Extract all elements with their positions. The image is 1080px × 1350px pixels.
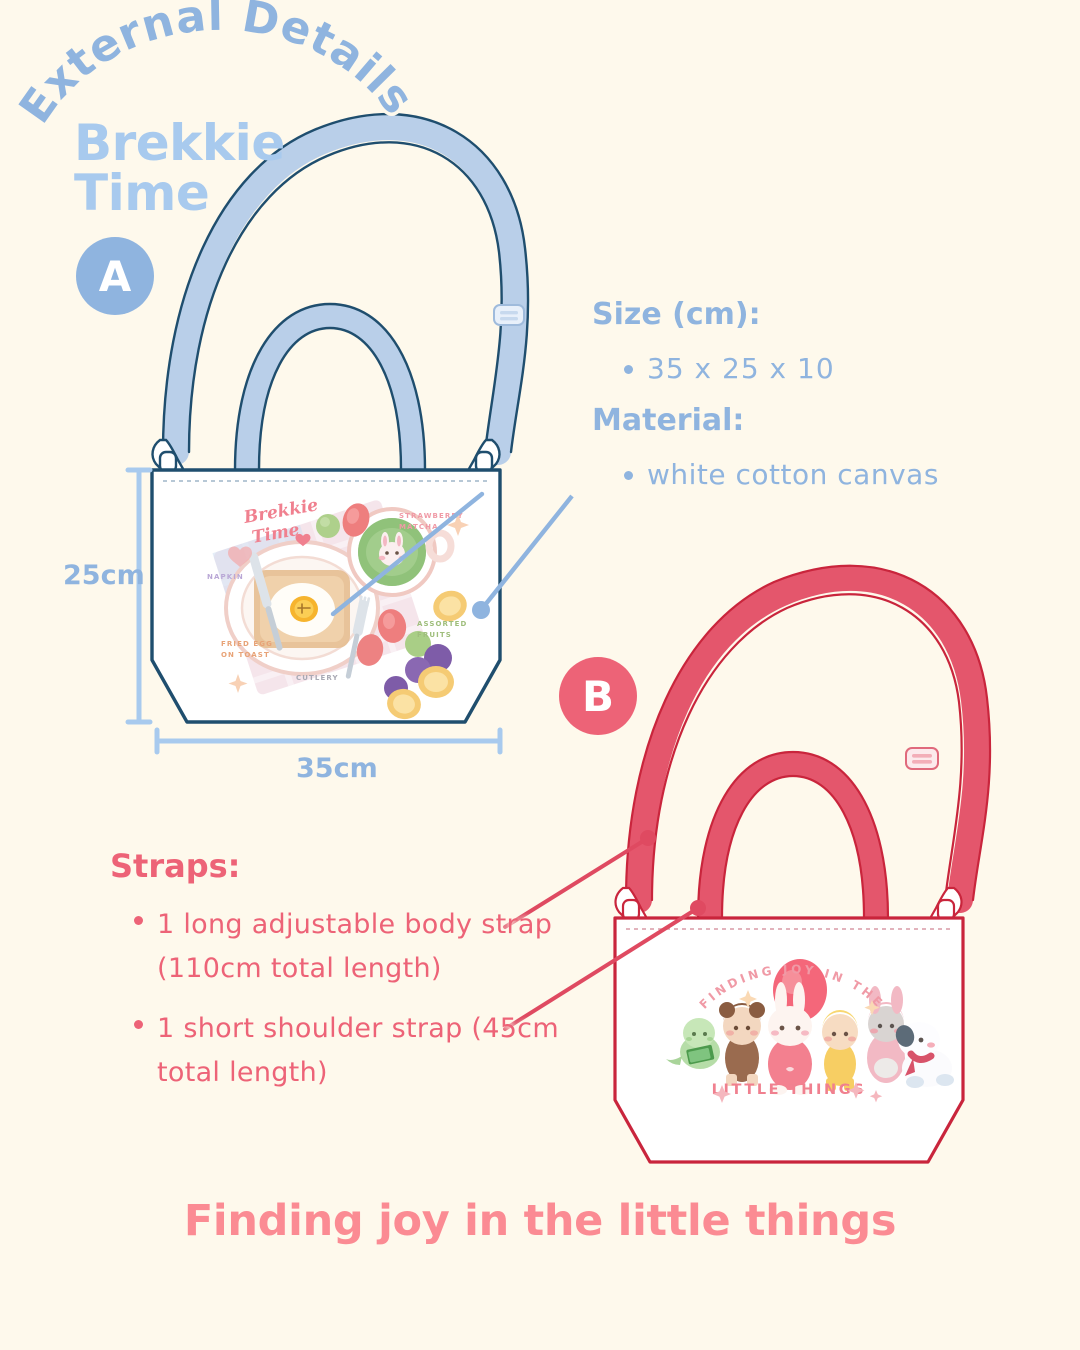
- size-list-item: 35 x 25 x 10: [624, 352, 835, 385]
- bullet-dot-icon: [134, 916, 143, 925]
- strap-long-value: 1 long adjustable body strap (110cm tota…: [157, 903, 564, 991]
- bullet-dot-icon: [134, 1020, 143, 1029]
- bullet-dot-icon: [624, 471, 633, 480]
- strap-list-item: 1 long adjustable body strap (110cm tota…: [134, 903, 564, 991]
- size-value: 35 x 25 x 10: [647, 352, 835, 385]
- material-value: white cotton canvas: [647, 458, 939, 491]
- badge-b: B: [559, 657, 637, 735]
- size-heading: Size (cm):: [592, 297, 761, 332]
- page-title: Brekkie Time: [74, 118, 285, 218]
- badge-a: A: [76, 237, 154, 315]
- material-list-item: white cotton canvas: [624, 458, 939, 491]
- leader-line-material: [333, 494, 482, 614]
- infographic-canvas: Brekkie Time NAPKIN STRAWBERRY MATCHA AS…: [0, 0, 1080, 1350]
- svg-text:External Details: External Details: [10, 0, 424, 132]
- footer-tagline: Finding joy in the little things: [0, 1196, 1080, 1246]
- strap-short-value: 1 short shoulder strap (45cm total lengt…: [157, 1007, 564, 1095]
- bullet-dot-icon: [624, 365, 633, 374]
- strap-list-item: 1 short shoulder strap (45cm total lengt…: [134, 1007, 564, 1095]
- straps-heading: Straps:: [110, 847, 240, 885]
- material-heading: Material:: [592, 403, 744, 438]
- external-details-arched-text: External Details: [10, 0, 424, 132]
